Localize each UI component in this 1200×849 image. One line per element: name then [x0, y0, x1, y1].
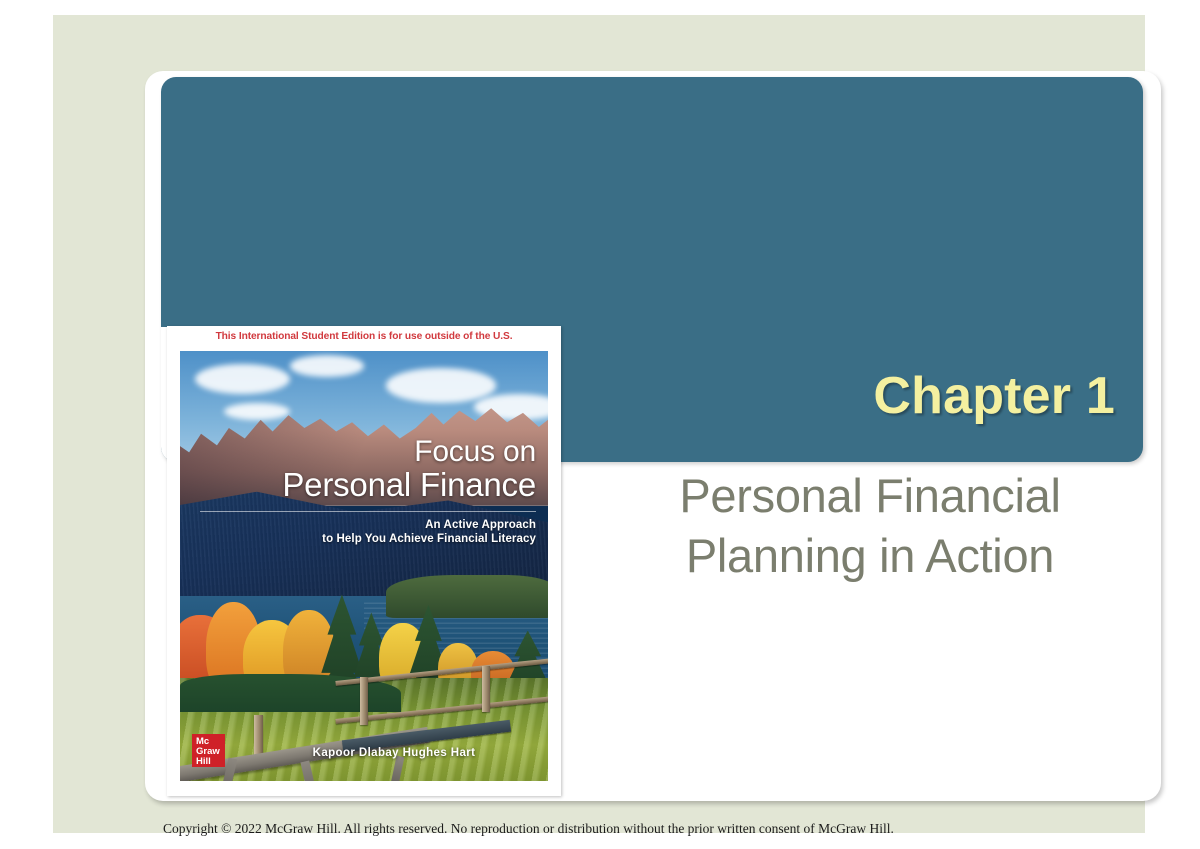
book-cover: This International Student Edition is fo… [167, 326, 561, 796]
book-cover-photo: Focus on Personal Finance An Active Appr… [180, 351, 548, 781]
logo-line-3: Hill [196, 757, 225, 767]
chapter-number-label: Chapter 1 [873, 370, 1115, 422]
copyright-notice: Copyright © 2022 McGraw Hill. All rights… [163, 821, 894, 837]
presentation-backdrop: Chapter 1 Personal Financial Planning in… [53, 15, 1145, 833]
cloud-icon [195, 364, 291, 394]
international-student-edition-banner: This International Student Edition is fo… [167, 331, 561, 342]
fence-post [482, 666, 490, 712]
book-authors: Kapoor Dlabay Hughes Hart [180, 747, 548, 759]
slide-title: Personal Financial Planning in Action [615, 466, 1125, 586]
book-title: Focus on Personal Finance [282, 437, 536, 502]
cloud-icon [224, 403, 290, 420]
book-title-line-1: Focus on [282, 437, 536, 468]
mcgraw-hill-logo: Mc Graw Hill [192, 734, 225, 767]
book-title-line-2: Personal Finance [282, 468, 536, 502]
book-subtitle-line-2: to Help You Achieve Financial Literacy [322, 532, 536, 546]
book-subtitle-line-1: An Active Approach [322, 518, 536, 532]
slide-card: Chapter 1 Personal Financial Planning in… [145, 71, 1161, 801]
book-title-divider [200, 511, 536, 512]
slide-title-line-1: Personal Financial [615, 466, 1125, 526]
fence-post [360, 677, 368, 725]
slide-title-line-2: Planning in Action [615, 526, 1125, 586]
cloud-icon [386, 368, 496, 402]
cloud-icon [290, 355, 364, 377]
book-subtitle: An Active Approach to Help You Achieve F… [322, 518, 536, 547]
